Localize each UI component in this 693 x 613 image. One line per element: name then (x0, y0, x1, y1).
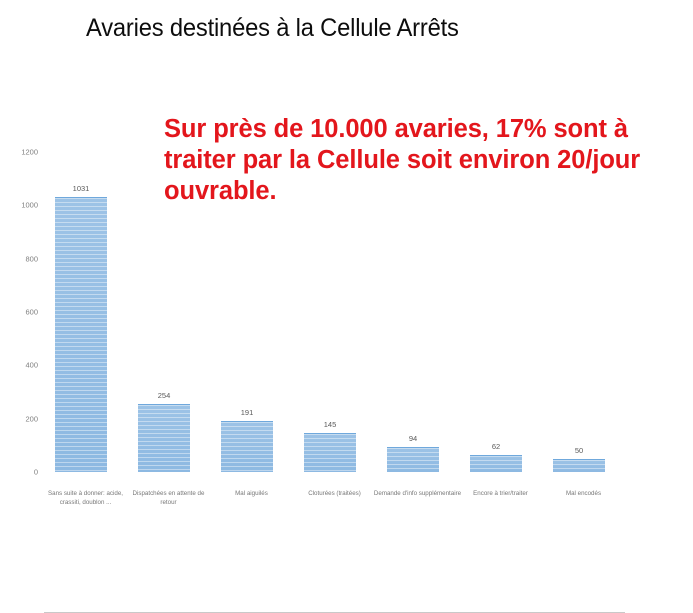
bar-value-label: 191 (210, 408, 284, 417)
y-axis-tick: 0 (34, 468, 38, 477)
bar-value-label: 145 (293, 420, 367, 429)
page-title: Avaries destinées à la Cellule Arrêts (86, 13, 459, 43)
bar[interactable] (470, 455, 522, 472)
bar-slot: 50Mal encodés (542, 152, 625, 472)
bar[interactable] (138, 404, 190, 472)
bar-value-label: 50 (542, 446, 616, 455)
bar-value-label: 254 (127, 391, 201, 400)
bar[interactable] (387, 447, 439, 472)
bar[interactable] (553, 459, 605, 472)
x-axis-category-label: Sans suite à donner: acide, crassiti, do… (41, 489, 130, 507)
bar[interactable] (55, 197, 107, 472)
bar[interactable] (221, 421, 273, 472)
y-axis-tick: 200 (25, 414, 38, 423)
bar-chart: 020040060080010001200 1031Sans suite à d… (0, 140, 693, 518)
bar-slot: 191Mal aiguilés (210, 152, 293, 472)
bar-value-label: 62 (459, 442, 533, 451)
y-axis-tick: 1000 (21, 201, 38, 210)
x-axis-category-label: Mal aiguilés (207, 489, 296, 498)
bar-value-label: 94 (376, 434, 450, 443)
bar-slot: 1031Sans suite à donner: acide, crassiti… (44, 152, 127, 472)
x-axis-category-label: Cloturées (traitées) (290, 489, 379, 498)
x-axis-category-label: Mal encodés (539, 489, 628, 498)
bar-slot: 145Cloturées (traitées) (293, 152, 376, 472)
bar-value-label: 1031 (44, 184, 118, 193)
bar-slot: 62Encore à trier/traiter (459, 152, 542, 472)
x-axis-category-label: Demande d'info supplémentaire (373, 489, 462, 498)
bar-slot: 94Demande d'info supplémentaire (376, 152, 459, 472)
x-axis-category-label: Dispatchées en attente de retour (124, 489, 213, 507)
chart-plot-area: 020040060080010001200 1031Sans suite à d… (44, 152, 625, 472)
bar[interactable] (304, 433, 356, 472)
y-axis-tick: 400 (25, 361, 38, 370)
x-axis-category-label: Encore à trier/traiter (456, 489, 545, 498)
y-axis-tick: 800 (25, 254, 38, 263)
bar-slot: 254Dispatchées en attente de retour (127, 152, 210, 472)
y-axis-tick: 1200 (21, 148, 38, 157)
y-axis-tick: 600 (25, 308, 38, 317)
